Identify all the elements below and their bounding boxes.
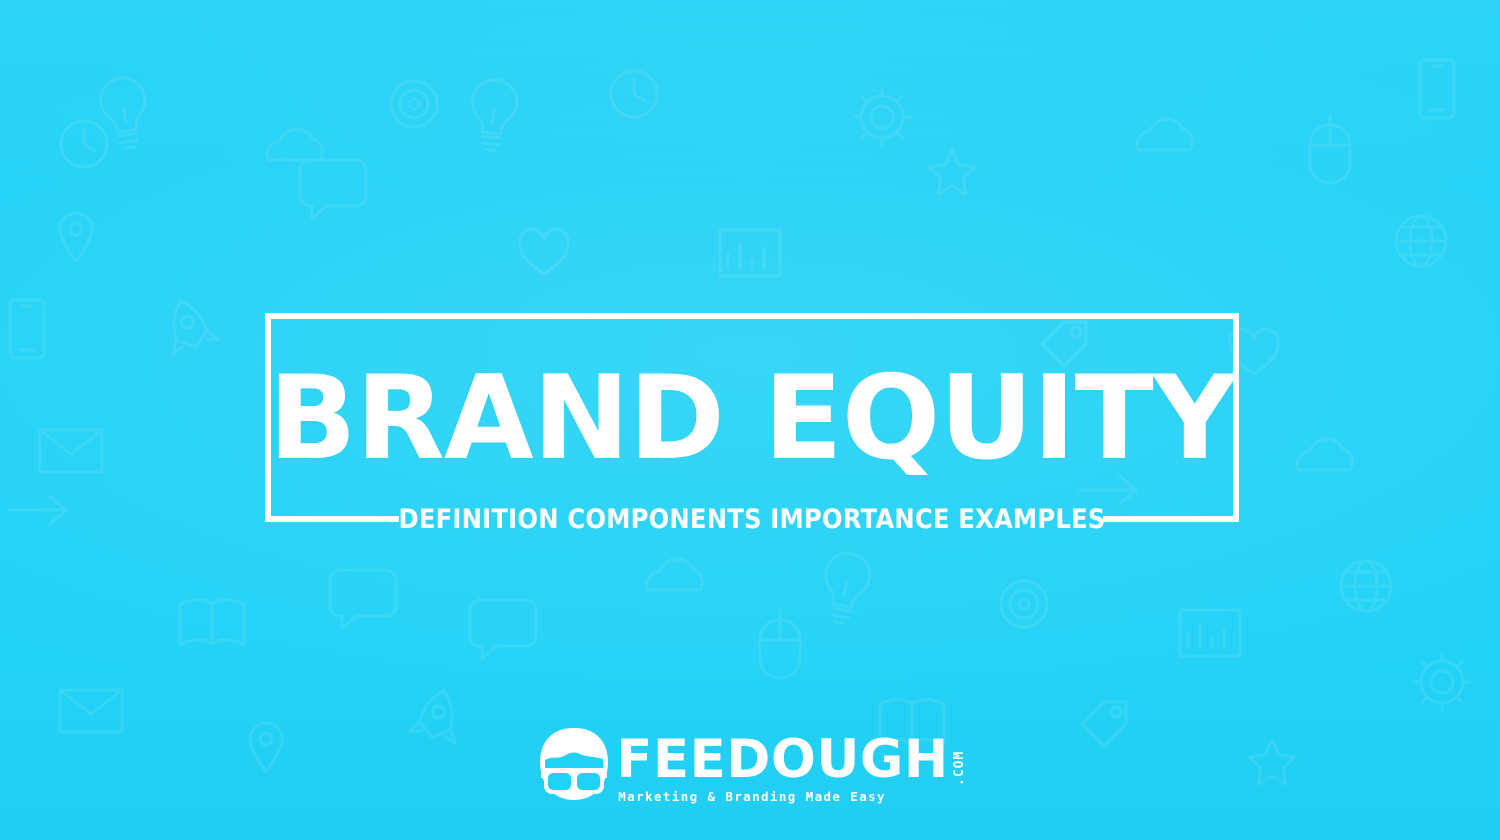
feedough-face-glasses-icon (534, 726, 614, 804)
frame-border-top (265, 313, 1239, 319)
title-frame: BRAND EQUITY DEFINITION COMPONENTS IMPOR… (265, 313, 1239, 522)
page-subtitle: DEFINITION COMPONENTS IMPORTANCE EXAMPLE… (314, 504, 1191, 536)
logo-text-block: FEEDOUGH .COM Marketing & Branding Made … (616, 724, 966, 805)
page-title: BRAND EQUITY (265, 361, 1239, 477)
logo-tld: .COM (953, 742, 966, 786)
logo-wordmark-row: FEEDOUGH .COM (616, 736, 966, 786)
feedough-logo: FEEDOUGH .COM Marketing & Branding Made … (0, 724, 1500, 816)
brand-equity-banner: BRAND EQUITY DEFINITION COMPONENTS IMPOR… (0, 0, 1500, 840)
logo-tagline: Marketing & Branding Made Easy (618, 789, 886, 805)
logo-wordmark: FEEDOUGH (616, 736, 949, 784)
